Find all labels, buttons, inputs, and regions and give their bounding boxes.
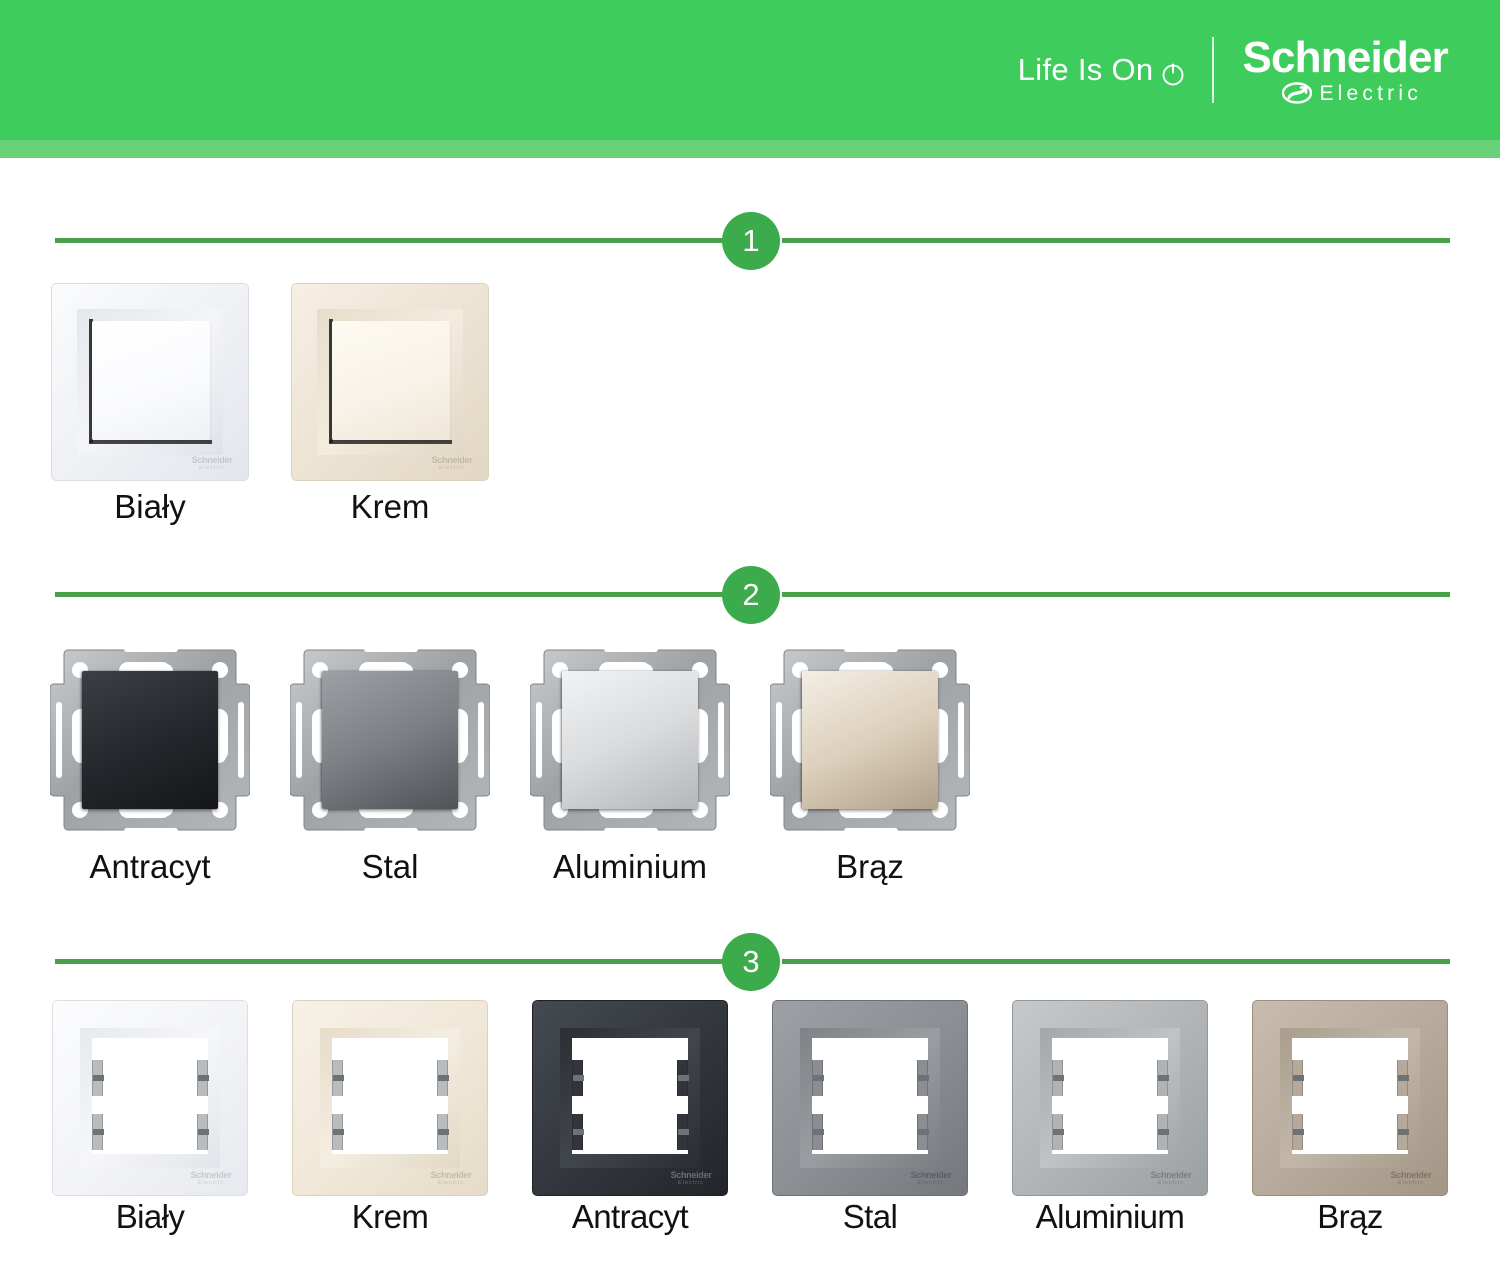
mini-logo-line1: Schneider — [911, 1171, 952, 1180]
section-badge-1: 1 — [722, 212, 780, 270]
mini-logo-line1: Schneider — [1151, 1171, 1192, 1180]
product-label: Krem — [270, 1198, 510, 1236]
product-label: Stal — [270, 848, 510, 886]
product-mini-logo: Schneider Electric — [1384, 1170, 1438, 1188]
divider-rule-right — [782, 238, 1450, 243]
frame-clip-icon — [437, 1060, 448, 1096]
schneider-logo: Schneider Electric — [1214, 36, 1448, 104]
mini-logo-line1: Schneider — [431, 1171, 472, 1180]
product-label: Biały — [30, 1198, 270, 1236]
product-cell-frame-stal[interactable]: Schneider Electric Stal — [750, 1000, 990, 1196]
product-cell-frame-antracyt[interactable]: Schneider Electric Antracyt — [510, 1000, 750, 1196]
product-cell-mech-antracyt[interactable]: Antracyt — [30, 640, 270, 840]
product-cell-mech-stal[interactable]: Stal — [270, 640, 510, 840]
section-divider-2: 2 — [0, 566, 1500, 624]
frame-clip-icon — [332, 1114, 343, 1150]
mini-logo-line1: Schneider — [191, 1171, 232, 1180]
brand-block: Life Is On Schneider Electric — [1018, 0, 1448, 140]
product-label: Krem — [270, 488, 510, 526]
divider-rule-right — [782, 959, 1450, 964]
mini-logo-line1: Schneider — [192, 456, 233, 465]
frame-clip-icon — [197, 1114, 208, 1150]
frame-window — [572, 1038, 688, 1154]
mini-logo-line1: Schneider — [671, 1171, 712, 1180]
switch-rocker[interactable] — [92, 321, 210, 440]
frame-unit[interactable]: Schneider Electric — [292, 1000, 488, 1196]
frame-clip-icon — [92, 1060, 103, 1096]
product-label: Brąz — [750, 848, 990, 886]
power-icon — [1160, 59, 1186, 85]
switch-unit[interactable]: Schneider Electric — [51, 283, 249, 481]
product-cell-frame-bialy[interactable]: Schneider Electric Biały — [30, 1000, 270, 1196]
product-label: Stal — [750, 1198, 990, 1236]
frame-clip-icon — [812, 1114, 823, 1150]
mini-logo-line1: Schneider — [1391, 1171, 1432, 1180]
page-header: Life Is On Schneider Electric — [0, 0, 1500, 140]
product-cell-frame-krem[interactable]: Schneider Electric Krem — [270, 1000, 510, 1196]
frame-window — [332, 1038, 448, 1154]
mini-logo-line2: Electric — [1398, 1180, 1424, 1187]
schneider-sub-text: Electric — [1319, 83, 1421, 104]
frame-clip-icon — [92, 1114, 103, 1150]
frame-clip-icon — [917, 1060, 928, 1096]
tagline-text: Life Is On — [1018, 52, 1154, 88]
schneider-wordmark: Schneider — [1242, 36, 1448, 80]
product-cell-switch-bialy[interactable]: Schneider Electric Biały — [30, 283, 270, 481]
product-row-1: Schneider Electric Biały Schneider Elect… — [0, 283, 1500, 523]
frame-unit[interactable]: Schneider Electric — [532, 1000, 728, 1196]
frame-clip-icon — [197, 1060, 208, 1096]
frame-clip-icon — [437, 1114, 448, 1150]
mechanism-unit[interactable] — [770, 640, 970, 840]
frame-clip-icon — [1292, 1114, 1303, 1150]
product-label: Brąz — [1230, 1198, 1470, 1236]
product-mini-logo: Schneider Electric — [184, 1170, 238, 1188]
mini-logo-line2: Electric — [918, 1180, 944, 1187]
tagline: Life Is On — [1018, 52, 1213, 88]
frame-unit[interactable]: Schneider Electric — [52, 1000, 248, 1196]
divider-rule-right — [782, 592, 1450, 597]
product-label: Biały — [30, 488, 270, 526]
frame-unit[interactable]: Schneider Electric — [1012, 1000, 1208, 1196]
mechanism-rocker[interactable] — [802, 671, 938, 809]
mini-logo-line2: Electric — [438, 1180, 464, 1187]
product-cell-switch-krem[interactable]: Schneider Electric Krem — [270, 283, 510, 481]
frame-window — [812, 1038, 928, 1154]
frame-window — [92, 1038, 208, 1154]
frame-window — [1292, 1038, 1408, 1154]
header-accent-strip — [0, 140, 1500, 158]
mini-logo-line2: Electric — [199, 465, 225, 472]
rocker-gap-bottom — [329, 440, 452, 444]
frame-clip-icon — [1292, 1060, 1303, 1096]
frame-clip-icon — [1397, 1060, 1408, 1096]
frame-clip-icon — [1157, 1060, 1168, 1096]
product-label: Antracyt — [30, 848, 270, 886]
frame-clip-icon — [1397, 1114, 1408, 1150]
section-divider-3: 3 — [0, 933, 1500, 991]
section-divider-1: 1 — [0, 212, 1500, 270]
mini-logo-line2: Electric — [198, 1180, 224, 1187]
product-mini-logo: Schneider Electric — [185, 455, 239, 473]
frame-unit[interactable]: Schneider Electric — [1252, 1000, 1448, 1196]
mechanism-unit[interactable] — [530, 640, 730, 840]
section-badge-2: 2 — [722, 566, 780, 624]
mechanism-rocker[interactable] — [562, 671, 698, 809]
mini-logo-line2: Electric — [439, 465, 465, 472]
product-mini-logo: Schneider Electric — [904, 1170, 958, 1188]
divider-rule-left — [55, 238, 723, 243]
product-label: Aluminium — [990, 1198, 1230, 1236]
product-cell-frame-braz[interactable]: Schneider Electric Brąz — [1230, 1000, 1470, 1196]
mechanism-unit[interactable] — [50, 640, 250, 840]
frame-window — [1052, 1038, 1168, 1154]
frame-clip-icon — [677, 1114, 688, 1150]
mechanism-unit[interactable] — [290, 640, 490, 840]
frame-clip-icon — [572, 1060, 583, 1096]
mini-logo-line2: Electric — [678, 1180, 704, 1187]
section-badge-3: 3 — [722, 933, 780, 991]
frame-clip-icon — [572, 1114, 583, 1150]
product-label: Aluminium — [510, 848, 750, 886]
switch-unit[interactable]: Schneider Electric — [291, 283, 489, 481]
schneider-sub-row: Electric — [1284, 82, 1421, 104]
product-mini-logo: Schneider Electric — [425, 455, 479, 473]
schneider-bolt-icon — [1282, 82, 1312, 104]
divider-rule-left — [55, 592, 723, 597]
frame-clip-icon — [1157, 1114, 1168, 1150]
product-mini-logo: Schneider Electric — [1144, 1170, 1198, 1188]
product-mini-logo: Schneider Electric — [664, 1170, 718, 1188]
mini-logo-line2: Electric — [1158, 1180, 1184, 1187]
rocker-gap-bottom — [89, 440, 212, 444]
product-row-3: Schneider Electric Biały Schneider Elect… — [0, 1000, 1500, 1250]
product-row-2: Antracyt Stal — [0, 640, 1500, 890]
frame-clip-icon — [332, 1060, 343, 1096]
frame-clip-icon — [1052, 1060, 1063, 1096]
mini-logo-line1: Schneider — [432, 456, 473, 465]
frame-clip-icon — [1052, 1114, 1063, 1150]
frame-unit[interactable]: Schneider Electric — [772, 1000, 968, 1196]
product-mini-logo: Schneider Electric — [424, 1170, 478, 1188]
product-cell-mech-aluminium[interactable]: Aluminium — [510, 640, 750, 840]
product-cell-mech-braz[interactable]: Brąz — [750, 640, 990, 840]
divider-rule-left — [55, 959, 723, 964]
frame-clip-icon — [812, 1060, 823, 1096]
mechanism-rocker[interactable] — [82, 671, 218, 809]
frame-clip-icon — [917, 1114, 928, 1150]
product-cell-frame-aluminium[interactable]: Schneider Electric Aluminium — [990, 1000, 1230, 1196]
mechanism-rocker[interactable] — [322, 671, 458, 809]
switch-rocker[interactable] — [332, 321, 450, 440]
frame-clip-icon — [677, 1060, 688, 1096]
product-label: Antracyt — [510, 1198, 750, 1236]
